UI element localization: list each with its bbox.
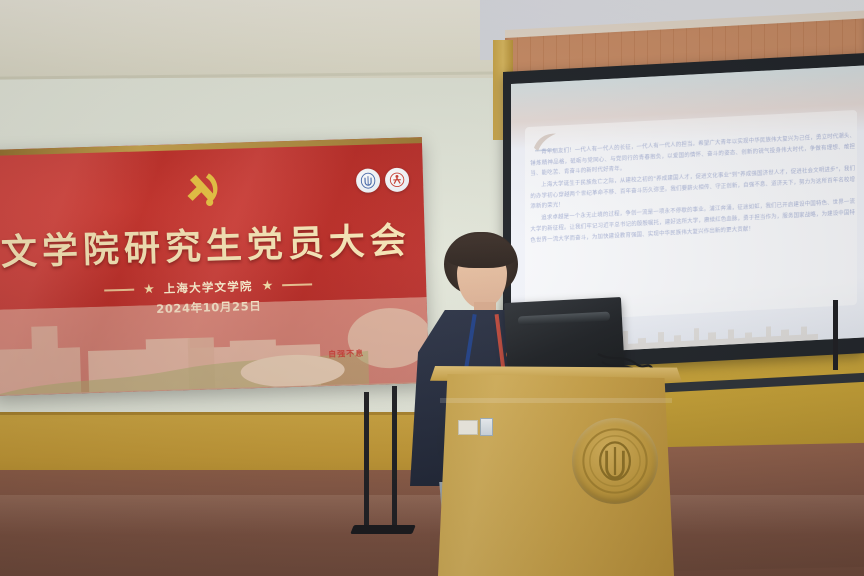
stone-inscription: 自强不息 — [328, 348, 364, 360]
banner-stand-pole-left-2 — [392, 386, 397, 527]
star-left-icon: ★ — [143, 283, 155, 296]
rule-left — [104, 289, 134, 292]
red-figure-logo-icon — [385, 167, 410, 192]
campus-panorama-illustration — [0, 297, 429, 396]
upper-wall — [0, 0, 505, 78]
hammer-and-sickle-icon — [179, 169, 226, 210]
asset-tag — [480, 418, 493, 436]
banner-logos — [356, 167, 410, 193]
shanghai-university-seal-icon — [572, 418, 658, 504]
conference-banner: 文学院研究生党员大会 ★ 上海大学文学院 ★ 2024年10月25日 自强不息 — [0, 137, 429, 396]
slide-text-block: 青年朋友们！一代人有一代人的长征，一代人有一代人的担当。希望广大青年以实现中华民… — [530, 131, 855, 247]
shanghai-university-logo-icon — [356, 168, 381, 193]
equipment-label — [458, 420, 478, 435]
screenshot-root: 青年朋友们！一代人有一代人的长征，一代人有一代人的担当。希望广大青年以实现中华民… — [0, 0, 864, 576]
banner-organization: 上海大学文学院 — [164, 278, 253, 297]
banner-stand-pole-left — [364, 392, 369, 527]
banner-stand-pole-right — [833, 300, 838, 370]
star-right-icon: ★ — [261, 279, 273, 292]
podium-trim — [440, 398, 672, 403]
rule-right — [282, 283, 312, 286]
